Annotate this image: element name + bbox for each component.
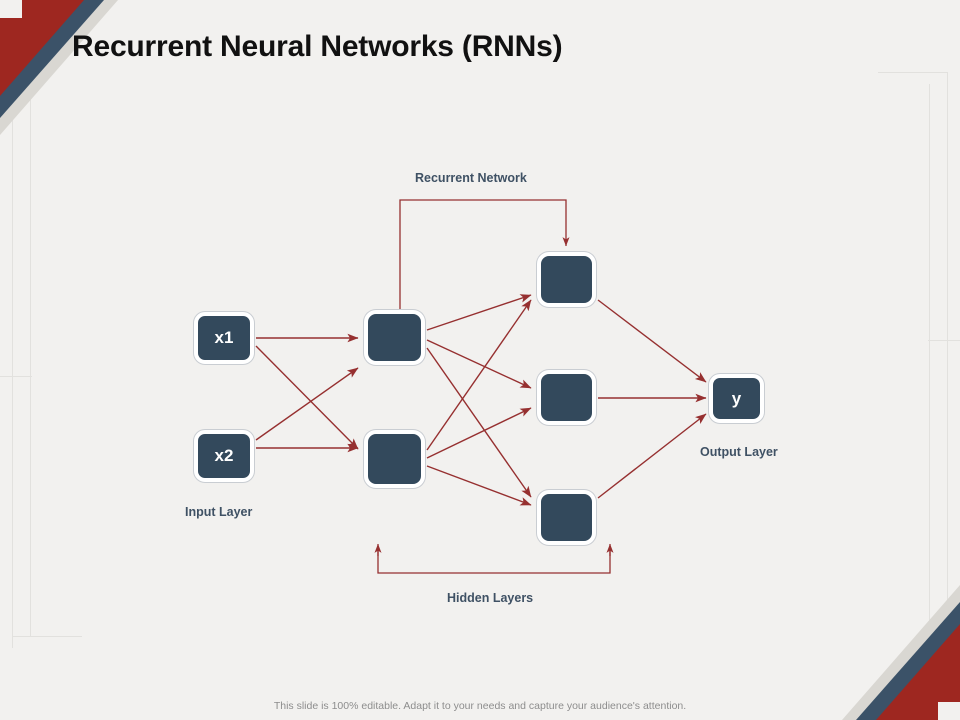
- network-diagram: [0, 0, 960, 720]
- input-node-x1[interactable]: x1: [194, 312, 254, 364]
- output-node-y-label: y: [732, 389, 741, 409]
- footer-note: This slide is 100% editable. Adapt it to…: [0, 700, 960, 712]
- hidden-node-2-3[interactable]: [537, 490, 596, 545]
- edge-group-hidden1-to-hidden2: [427, 295, 531, 505]
- recurrent-loop-bottom: [378, 546, 610, 573]
- slide-canvas: Recurrent Neural Networks (RNNs): [0, 0, 960, 720]
- input-node-x2[interactable]: x2: [194, 430, 254, 482]
- edge-group-hidden2-to-output: [598, 300, 706, 498]
- label-output-layer: Output Layer: [700, 445, 778, 459]
- label-input-layer: Input Layer: [185, 505, 252, 519]
- output-node-y[interactable]: y: [709, 374, 764, 423]
- edge-group-input-to-hidden1: [256, 338, 358, 449]
- label-recurrent-network: Recurrent Network: [415, 171, 527, 185]
- label-hidden-layers: Hidden Layers: [447, 591, 533, 605]
- input-node-x2-label: x2: [215, 446, 234, 466]
- hidden-node-2-1[interactable]: [537, 252, 596, 307]
- hidden-node-1-1[interactable]: [364, 310, 425, 365]
- hidden-node-2-2[interactable]: [537, 370, 596, 425]
- hidden-node-1-2[interactable]: [364, 430, 425, 488]
- input-node-x1-label: x1: [215, 328, 234, 348]
